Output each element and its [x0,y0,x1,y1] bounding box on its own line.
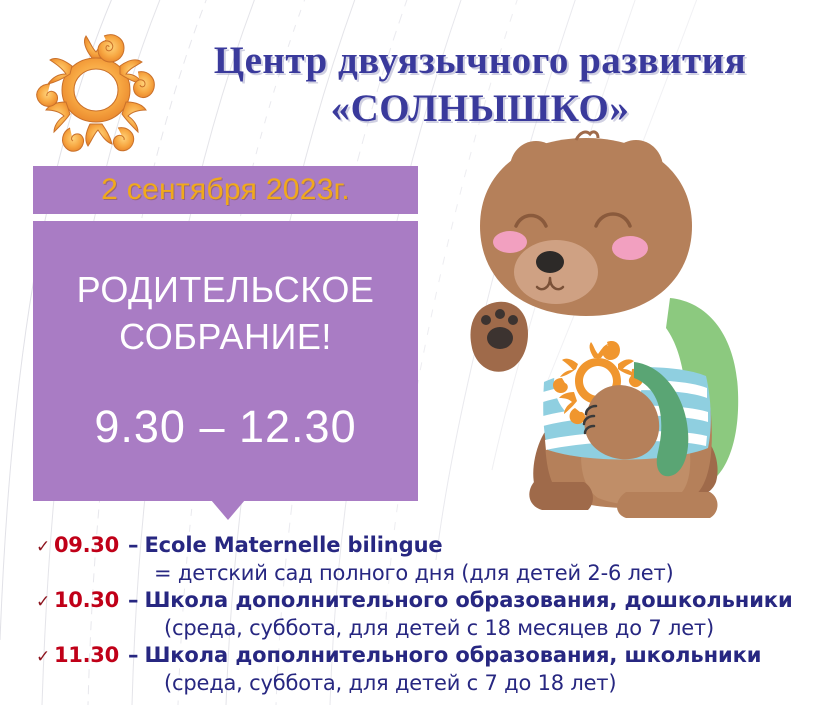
date-text: 2 сентября 2023г. [101,173,350,207]
schedule-time: 10.30 [54,587,119,613]
schedule-dash: – [119,642,145,668]
meeting-time-range: 9.30 – 12.30 [33,401,418,453]
meeting-title: РОДИТЕЛЬСКОЕ СОБРАНИЕ! [33,266,418,360]
schedule-time: 09.30 [54,532,119,558]
schedule-name: Ecole Maternelle bilingue [144,532,442,558]
schedule-subtitle: (среда, суббота, для детей с 7 до 18 лет… [36,670,826,697]
sun-logo-icon [34,28,158,154]
check-icon: ✓ [36,589,54,615]
schedule-name: Школа дополнительного образования, дошко… [144,587,792,613]
schedule-time: 11.30 [54,642,119,668]
schedule-subtitle: = детский сад полного дня (для детей 2-6… [36,560,826,587]
schedule-row: ✓ 09.30 – Ecole Maternelle bilingue [36,532,826,560]
schedule-list: ✓ 09.30 – Ecole Maternelle bilingue = де… [36,532,826,697]
schedule-row: ✓ 10.30 – Школа дополнительного образова… [36,587,826,615]
schedule-name: Школа дополнительного образования, школь… [144,642,761,668]
check-icon: ✓ [36,534,54,560]
schedule-dash: – [119,587,145,613]
header-title-block: Центр двуязычного развития «СОЛНЫШКО» [150,38,810,134]
schedule-subtitle: (среда, суббота, для детей с 18 месяцев … [36,615,826,642]
schedule-row: ✓ 11.30 – Школа дополнительного образова… [36,642,826,670]
schedule-dash: – [119,532,145,558]
poster-canvas: Центр двуязычного развития «СОЛНЫШКО» [0,0,832,705]
announcement-speech-box: РОДИТЕЛЬСКОЕ СОБРАНИЕ! 9.30 – 12.30 [33,221,418,501]
speech-bubble-tail [211,500,245,520]
date-banner: 2 сентября 2023г. [33,166,418,214]
center-title-line-1: Центр двуязычного развития [150,38,810,84]
check-icon: ✓ [36,644,54,670]
center-title-line-2: «СОЛНЫШКО» [150,84,810,134]
bear-mascot-illustration [438,130,778,530]
